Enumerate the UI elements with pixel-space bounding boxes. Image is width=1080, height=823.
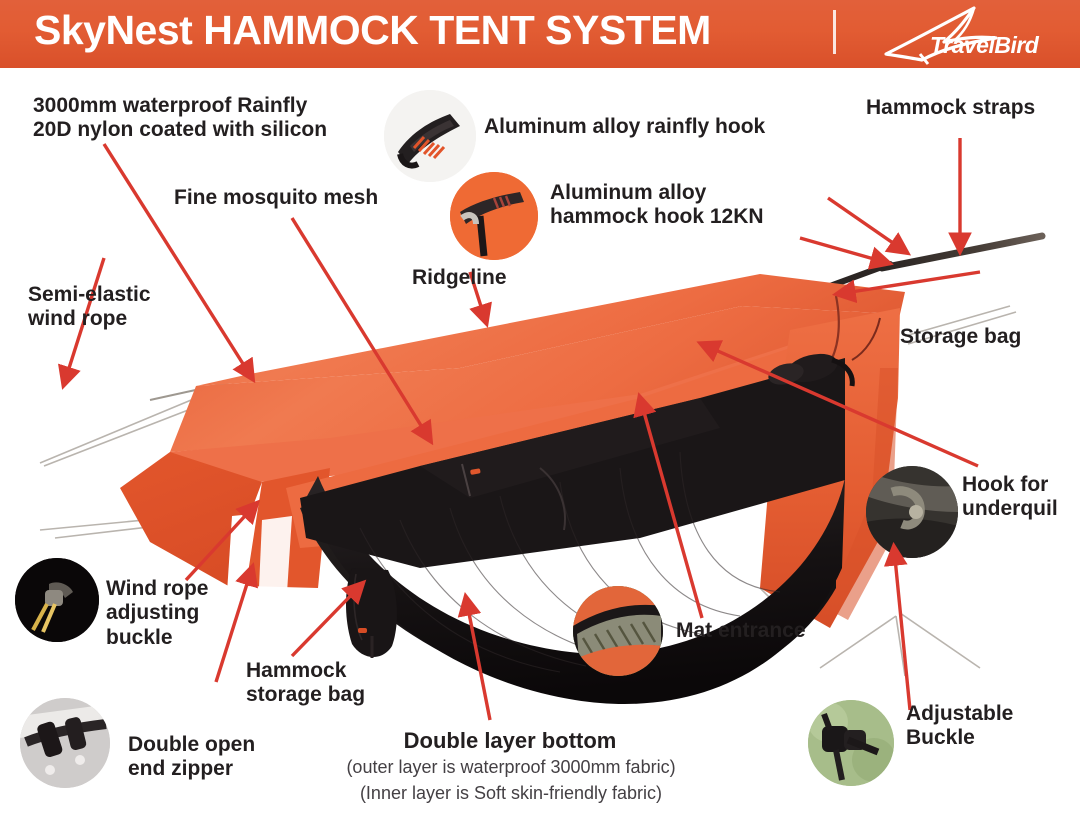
callout-mat-entrance: Mat entrance — [676, 619, 806, 643]
arrow-hammock-hook — [800, 238, 888, 263]
callout-hammock-hook: Aluminum alloy hammock hook 12KN — [550, 181, 764, 230]
brand-logo: TravelBird — [878, 2, 1074, 66]
infographic-poster: SkyNest HAMMOCK TENT SYSTEM TravelBird — [0, 0, 1080, 823]
callout-wind-rope-adjusting-buckle: Wind rope adjusting buckle — [106, 577, 208, 650]
callout-hammock-storage-bag: Hammock storage bag — [246, 659, 365, 708]
arrow-mosquito-mesh — [292, 218, 430, 440]
callout-hammock-straps: Hammock straps — [866, 96, 1035, 120]
callout-storage-bag: Storage bag — [900, 325, 1021, 349]
callout-rainfly: 3000mm waterproof Rainfly 20D nylon coat… — [33, 94, 327, 143]
page-title: SkyNest HAMMOCK TENT SYSTEM — [34, 7, 711, 54]
arrow-hook-underquil — [702, 344, 978, 466]
callout-double-open-end-zipper: Double open end zipper — [128, 733, 255, 782]
header-bar: SkyNest HAMMOCK TENT SYSTEM TravelBird — [0, 0, 1080, 68]
header-divider — [833, 10, 836, 54]
callout-mosquito-mesh: Fine mosquito mesh — [174, 186, 378, 210]
arrow-mat-entrance — [640, 398, 702, 618]
arrow-rainfly-hook — [828, 198, 906, 252]
product-diagram: 3000mm waterproof Rainfly 20D nylon coat… — [0, 68, 1080, 823]
arrow-storage-bag — [838, 272, 980, 294]
callout-adjustable-buckle: Adjustable Buckle — [906, 702, 1013, 751]
double-layer-bottom-line2: (Inner layer is Soft skin-friendly fabri… — [286, 783, 736, 804]
callout-hook-for-underquil: Hook for underquil — [962, 473, 1058, 522]
brand-name: TravelBird — [930, 32, 1038, 59]
arrow-adjustable-buckle — [894, 548, 910, 710]
callout-ridgeline: Ridgeline — [412, 266, 507, 290]
double-layer-bottom-line1: (outer layer is waterproof 3000mm fabric… — [286, 757, 736, 778]
callout-wind-rope: Semi-elastic wind rope — [28, 283, 151, 332]
double-layer-bottom-title: Double layer bottom — [310, 728, 710, 754]
callout-rainfly-hook: Aluminum alloy rainfly hook — [484, 115, 765, 139]
arrow-rainfly — [104, 144, 252, 378]
arrow-hammock-storage-bag — [292, 584, 362, 656]
arrow-wind-rope-buckle — [186, 504, 256, 580]
arrow-double-layer-bottom — [466, 598, 490, 720]
